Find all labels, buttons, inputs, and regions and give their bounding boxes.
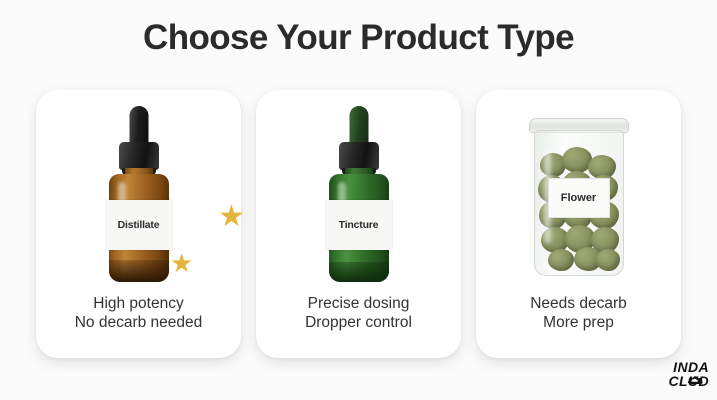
star-icon: ★	[218, 202, 245, 232]
product-artwork-tincture: Tincture	[256, 90, 461, 290]
card-caption-distillate: High potency No decarb needed	[36, 294, 241, 332]
product-card-list: Distillate High potency No decarb needed	[36, 90, 681, 358]
caption-line-2: More prep	[476, 313, 681, 332]
product-card-flower[interactable]: Flower Needs decarb More prep	[476, 90, 681, 358]
caption-line-1: Needs decarb	[530, 295, 627, 312]
product-card-tincture[interactable]: Tincture Precise dosing Dropper control	[256, 90, 461, 358]
star-icon: ★	[170, 250, 193, 276]
brand-logo: INDA CLUD	[635, 360, 709, 394]
product-artwork-flower: Flower	[476, 90, 681, 290]
caption-line-1: High potency	[93, 295, 183, 312]
caption-line-2: Dropper control	[256, 313, 461, 332]
card-caption-tincture: Precise dosing Dropper control	[256, 294, 461, 332]
logo-text-inda: INDA	[635, 360, 709, 374]
caption-line-2: No decarb needed	[36, 313, 241, 332]
green-dropper-bottle-icon: Tincture	[322, 106, 396, 282]
dropper-cap	[339, 142, 379, 170]
bottle-label: Distillate	[106, 200, 172, 250]
amber-dropper-bottle-icon: Distillate	[102, 106, 176, 282]
cloud-icon	[687, 375, 704, 385]
card-caption-flower: Needs decarb More prep	[476, 294, 681, 332]
bottle-label-text: Tincture	[339, 219, 379, 231]
product-card-distillate[interactable]: Distillate High potency No decarb needed	[36, 90, 241, 358]
logo-text-cloud: CLUD	[669, 374, 710, 388]
jar-label-text: Flower	[561, 192, 596, 204]
page-title: Choose Your Product Type	[0, 18, 717, 58]
product-artwork-distillate: Distillate	[36, 90, 241, 290]
logo-cloud-prefix: CL	[669, 373, 688, 389]
dropper-cap	[119, 142, 159, 170]
slide-canvas: Choose Your Product Type Distillate	[0, 0, 717, 400]
bottle-label-text: Distillate	[118, 219, 160, 231]
glass-jar-icon: Flower	[527, 118, 631, 276]
bottle-label: Tincture	[326, 200, 392, 250]
jar-label: Flower	[548, 178, 610, 218]
caption-line-1: Precise dosing	[308, 295, 410, 312]
